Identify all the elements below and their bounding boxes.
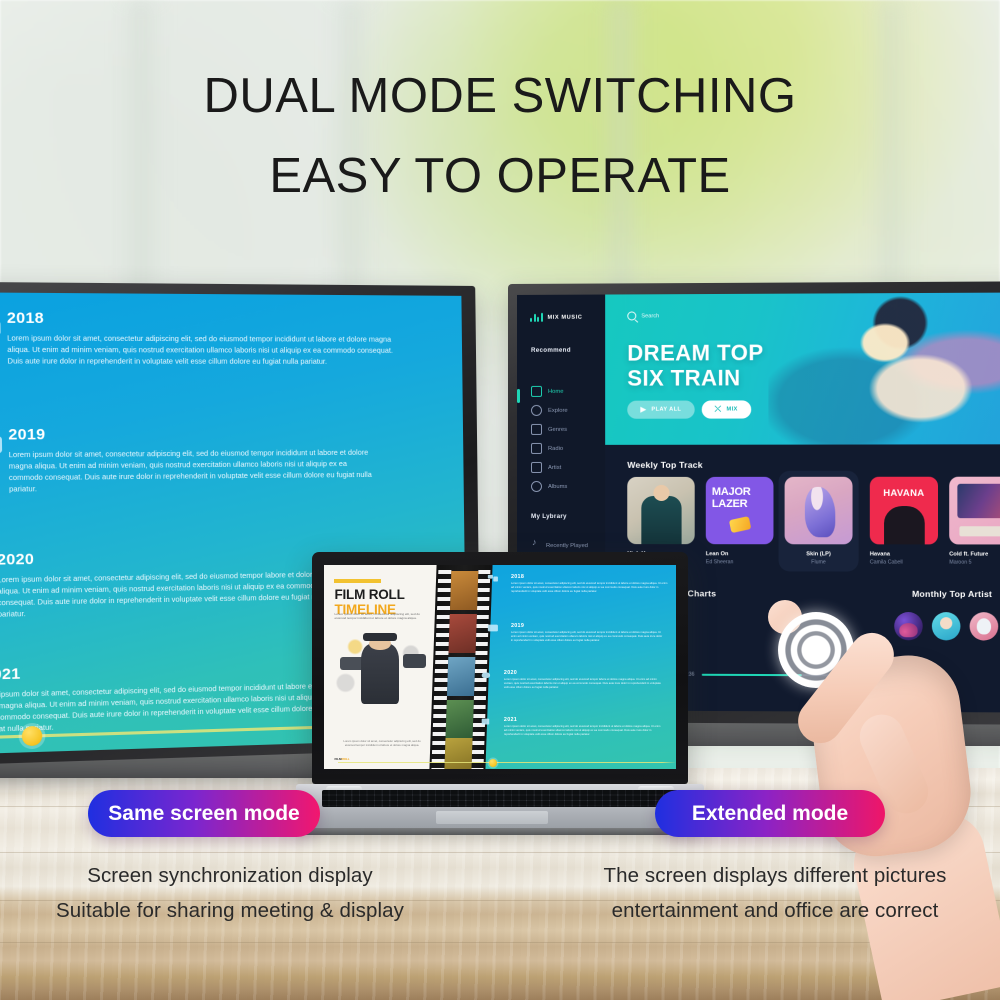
sidebar-item-albums[interactable]: Albums [531,481,567,492]
track-name: Skin (LP) [785,551,853,557]
timeline-entry-icon [487,623,500,634]
active-indicator [517,389,520,403]
sidebar-section-recommend: Recommend [531,347,571,354]
play-all-label: PLAY ALL [651,407,681,413]
artist-icon [531,462,542,473]
caption-line-2: Suitable for sharing meeting & display [20,893,440,928]
sidebar-item-recently-played[interactable]: Recently Played [531,541,588,550]
track-name: Havana [870,551,938,557]
mix-label: MIX [727,406,738,412]
sidebar-item-artist[interactable]: Artist [531,462,561,473]
photographer-figure [361,644,399,704]
albums-icon [531,481,542,492]
film-roll-caption: Lorem ipsum dolor sit amet, consectetur … [340,739,424,747]
album-art [949,477,1000,545]
track-artist: Ed Sheeran [706,559,774,565]
timeline-entry-icon [480,670,493,681]
radio-icon [531,443,542,454]
timeline-footer-rule [324,762,676,764]
timeline-year: 2019 [511,623,669,629]
weekly-top-track-heading: Weekly Top Track [627,460,703,470]
sidebar-item-home[interactable]: Home [531,386,564,397]
caption-line-2: entertainment and office are correct [560,893,990,928]
timeline-year: 2021 [504,717,669,723]
timeline-entry-icon [487,574,500,585]
headline-line-2: EASY TO OPERATE [0,146,1000,206]
search-icon [627,311,636,320]
timeline-entry: 2020 Lorem ipsum dolor sit amet, consect… [486,670,669,690]
mix-button[interactable]: ⤬ MIX [701,400,750,418]
film-frame [447,657,475,696]
search-bar[interactable]: Search [627,311,659,320]
laptop-screen[interactable]: FILM ROLL TIMELINE Lorem ipsum dolor sit… [324,565,676,769]
timeline-text: Lorem ipsum dolor sit amet, consectetur … [511,631,663,643]
timeline-text: Lorem ipsum dolor sit amet, consectetur … [504,725,664,737]
film-frame [448,614,476,653]
play-icon [640,407,646,413]
album-art-text: HAVANA [870,487,938,498]
laptop-base [296,784,704,828]
shuffle-icon: ⤬ [715,406,722,414]
sidebar-item-label: Explore [548,407,568,413]
title-accent-bar [334,579,380,583]
home-icon [531,386,542,397]
timeline-text: Lorem ipsum dolor sit amet, consectetur … [511,582,669,594]
track-name: Lean On [706,551,774,557]
timeline-entry: 2021 Lorem ipsum dolor sit amet, consect… [486,717,669,737]
sidebar-item-label: Recently Played [546,543,588,549]
timeline-entry: 2019 Lorem ipsum dolor sit amet, consect… [493,623,669,643]
timeline-year: 2018 [7,309,462,329]
headline-line-1: DUAL MODE SWITCHING [0,66,1000,126]
album-art: HAVANA [870,477,938,545]
search-placeholder: Search [641,313,659,319]
track-artist: Maroon 5 [949,560,1000,566]
sidebar-section-library: My Lybrary [531,513,567,520]
sidebar-item-label: Radio [548,445,563,451]
timeline-text: Lorem ipsum dolor sit amet, consectetur … [0,568,343,620]
explore-icon [531,405,542,416]
timeline-year: 2018 [511,574,669,580]
title-main: FILM ROLL [334,587,404,602]
music-logo-text: MIX MUSIC [548,314,583,320]
track-card-selected[interactable]: Skin (LP) Flume [779,471,859,572]
genres-icon [531,424,542,435]
timeline-footer-dot [489,759,497,767]
sidebar-item-label: Artist [548,464,561,470]
note-icon [531,541,540,550]
laptop-front-edge [290,828,710,835]
track-card[interactable]: HAVANA Havana Camila Cabell [870,477,938,572]
laptop-trackpad[interactable] [436,811,548,824]
timeline-entry-icon [0,432,7,459]
laptop-keyboard[interactable] [322,790,678,807]
caption-line-1: The screen displays different pictures [560,858,990,893]
advertisement-stage: DUAL MODE SWITCHING EASY TO OPERATE 2018… [0,0,1000,1000]
timeline-text: Lorem ipsum dolor sit amet, consectetur … [9,447,375,495]
monthly-top-artist-heading: Monthly Top Artist [912,589,992,599]
hero-banner: Search DREAM TOP SIX TRAIN PLAY ALL [605,293,1000,445]
logo-accent: ROLL [341,757,349,761]
hero-artist-photo [768,293,1000,445]
album-art [627,477,694,544]
timeline-year: 2019 [8,424,463,444]
timeline-entry: 2018 Lorem ipsum dolor sit amet, consect… [0,309,462,367]
extended-mode-pill[interactable]: Extended mode [655,790,885,837]
same-screen-mode-caption: Screen synchronization display Suitable … [20,858,440,928]
play-all-button[interactable]: PLAY ALL [627,401,694,419]
timeline-entry-icon [480,717,493,728]
logo-wave-icon [530,313,543,322]
track-artist: Camila Cabell [870,559,938,565]
sidebar-item-explore[interactable]: Explore [531,405,568,416]
film-strip [430,565,493,769]
album-art [785,477,853,545]
film-roll-logo: FILMROLL [334,757,349,761]
camera-icon [403,654,426,669]
same-screen-mode-pill[interactable]: Same screen mode [88,790,320,837]
track-card[interactable]: MAJOR LAZER Lean On Ed Sheeran [706,477,774,572]
album-art: MAJOR LAZER [706,477,774,544]
laptop-lid: FILM ROLL TIMELINE Lorem ipsum dolor sit… [312,552,688,784]
photographer-illustration [334,632,429,714]
sidebar-item-label: Genres [548,426,567,432]
caption-line-1: Screen synchronization display [20,858,440,893]
film-frame [445,700,473,739]
track-card[interactable]: Cold ft. Future Maroon 5 [949,477,1000,572]
timeline-text: Lorem ipsum dolor sit amet, consectetur … [7,332,403,367]
timeline-entry-icon [0,315,5,342]
timeline-year: 2020 [504,670,669,676]
music-logo[interactable]: MIX MUSIC [530,313,583,322]
sidebar-item-genres[interactable]: Genres [531,424,567,435]
film-frame [444,738,472,769]
extended-mode-caption: The screen displays different pictures e… [560,858,990,928]
track-artist: Flume [785,559,853,565]
sidebar-item-radio[interactable]: Radio [531,443,563,454]
album-art-text: MAJOR LAZER [712,487,768,510]
hero-title-line-2: SIX TRAIN [627,365,763,391]
film-roll-intro: Lorem ipsum dolor sit amet, consectetur … [334,612,427,621]
sidebar-item-label: Albums [548,483,567,489]
sidebar-item-label: Home [548,388,563,394]
hero-title: DREAM TOP SIX TRAIN [627,340,763,391]
timeline-entry: 2019 Lorem ipsum dolor sit amet, consect… [0,424,464,495]
film-frame [450,571,478,610]
track-name: Cold ft. Future [949,551,1000,557]
film-roll-panel: FILM ROLL TIMELINE Lorem ipsum dolor sit… [324,565,440,769]
timeline-slide-laptop: FILM ROLL TIMELINE Lorem ipsum dolor sit… [324,565,676,769]
hero-title-line-1: DREAM TOP [627,340,763,366]
timeline-text: Lorem ipsum dolor sit amet, consectetur … [504,678,664,690]
hero-actions: PLAY ALL ⤬ MIX [627,400,751,418]
laptop[interactable]: FILM ROLL TIMELINE Lorem ipsum dolor sit… [312,552,688,852]
timeline-entry: 2018 Lorem ipsum dolor sit amet, consect… [493,574,669,594]
timeline-footer-dot [21,726,42,746]
